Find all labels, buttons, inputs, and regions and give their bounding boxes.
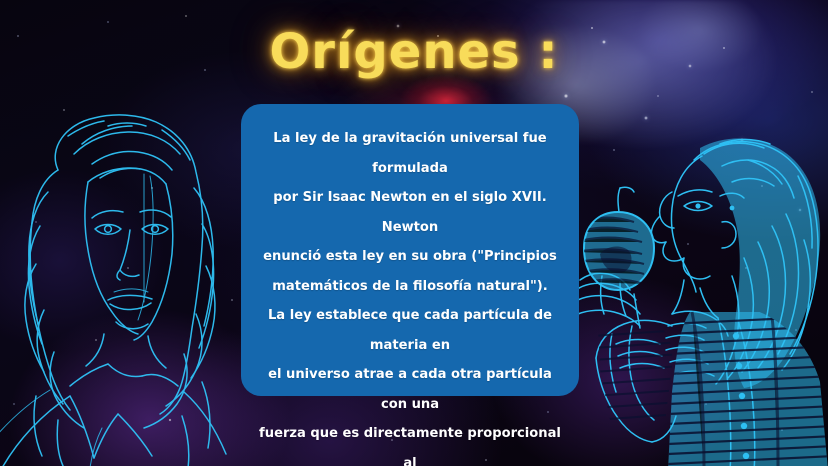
presentation-slide: Orígenes : La ley de la gravitación univ… — [0, 0, 828, 466]
gravitation-paragraph: La ley de la gravitación universal fue f… — [255, 124, 565, 466]
newton-portrait-line-art — [0, 96, 246, 466]
content-text-card: La ley de la gravitación universal fue f… — [241, 104, 579, 396]
page-title: Orígenes : — [0, 24, 828, 80]
newton-with-apple-engraving — [572, 130, 828, 466]
